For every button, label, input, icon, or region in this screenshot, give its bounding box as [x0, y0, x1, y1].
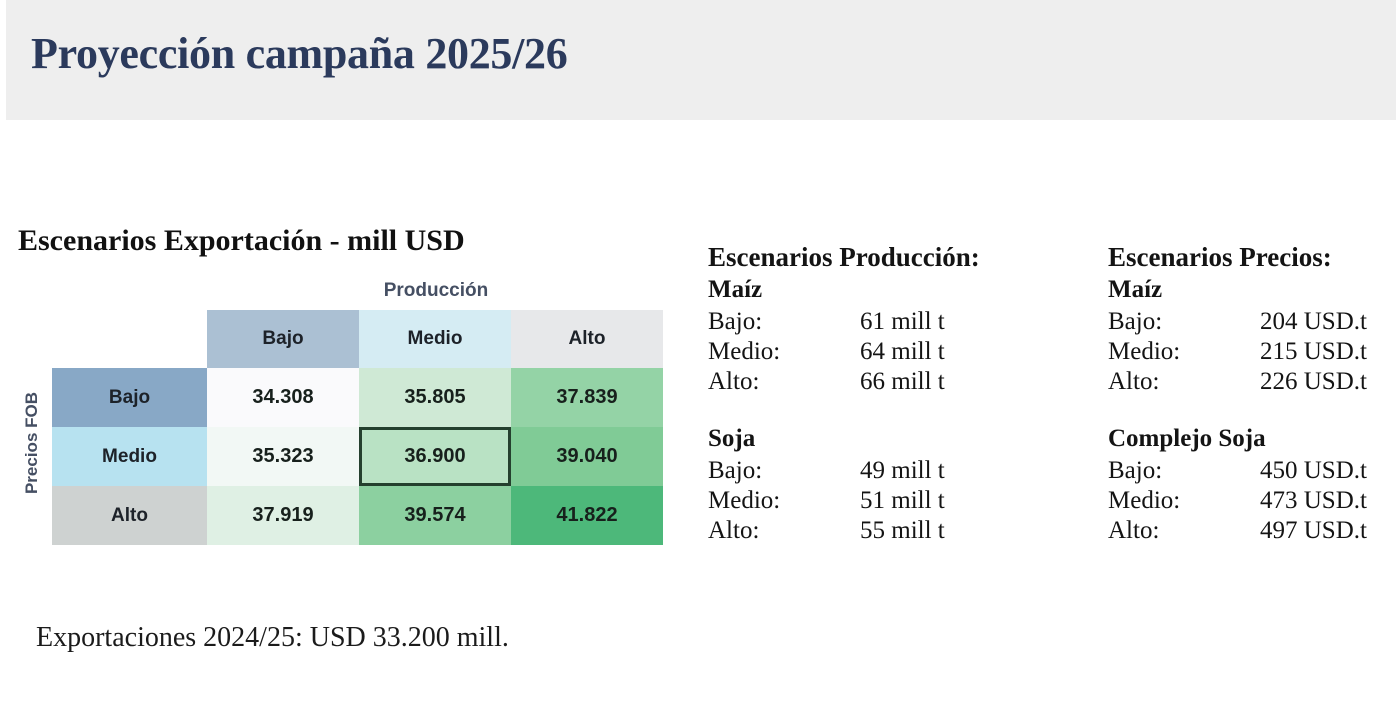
precios-complejo-soja-rows: Bajo: 450 USD.t Medio: 473 USD.t Alto: 4… — [1108, 456, 1396, 546]
row-value: 204 USD.t — [1260, 307, 1396, 337]
precios-group-maiz-name: Maíz — [1108, 274, 1396, 306]
row-label: Medio: — [708, 486, 860, 516]
row-value: 61 mill t — [860, 307, 1098, 337]
row-value: 64 mill t — [860, 337, 1098, 367]
row-label: Alto: — [1108, 516, 1260, 546]
row-label: Bajo: — [1108, 307, 1260, 337]
row-value: 497 USD.t — [1260, 516, 1396, 546]
precios-maiz-rows: Bajo: 204 USD.t Medio: 215 USD.t Alto: 2… — [1108, 307, 1396, 397]
row-value: 55 mill t — [860, 516, 1098, 546]
matrix-table: Bajo Medio Alto Bajo 34.308 35.805 37.83… — [52, 310, 663, 545]
row-label: Bajo: — [708, 307, 860, 337]
matrix-cell-alto-medio: 39.574 — [359, 486, 511, 545]
list-item: Alto: 55 mill t — [708, 516, 1098, 546]
escenarios-precios-title: Escenarios Precios: — [1108, 240, 1396, 274]
row-label: Alto: — [1108, 367, 1260, 397]
matrix-corner-cell — [52, 310, 207, 368]
column-header-alto: Alto — [511, 310, 663, 368]
row-label: Medio: — [1108, 486, 1260, 516]
column-header-medio: Medio — [359, 310, 511, 368]
precios-fob-axis-label: Precios FOB — [22, 383, 42, 503]
produccion-axis-label: Producción — [207, 280, 665, 302]
row-value: 66 mill t — [860, 367, 1098, 397]
row-label: Alto: — [708, 516, 860, 546]
precios-group-complejo-soja-name: Complejo Soja — [1108, 423, 1396, 455]
list-item: Medio: 473 USD.t — [1108, 486, 1396, 516]
matrix-cell-medio-medio-highlighted: 36.900 — [359, 427, 511, 486]
list-item: Medio: 215 USD.t — [1108, 337, 1396, 367]
table-row: Medio 35.323 36.900 39.040 — [52, 427, 663, 486]
list-item: Alto: 66 mill t — [708, 367, 1098, 397]
slide-root: Proyección campaña 2025/26 Escenarios Ex… — [0, 0, 1396, 716]
row-label: Bajo: — [1108, 456, 1260, 486]
column-header-bajo: Bajo — [207, 310, 359, 368]
escenarios-precios-block: Escenarios Precios: Maíz Bajo: 204 USD.t… — [1108, 240, 1396, 546]
exportaciones-footer-note: Exportaciones 2024/25: USD 33.200 mill. — [36, 622, 509, 654]
title-band-left-trim — [0, 0, 6, 120]
list-item: Bajo: 450 USD.t — [1108, 456, 1396, 486]
row-value: 473 USD.t — [1260, 486, 1396, 516]
produccion-soja-rows: Bajo: 49 mill t Medio: 51 mill t Alto: 5… — [708, 456, 1098, 546]
list-item: Alto: 497 USD.t — [1108, 516, 1396, 546]
row-value: 226 USD.t — [1260, 367, 1396, 397]
group-spacer — [1108, 397, 1396, 423]
produccion-group-maiz-name: Maíz — [708, 274, 1098, 306]
list-item: Bajo: 49 mill t — [708, 456, 1098, 486]
produccion-group-soja-name: Soja — [708, 423, 1098, 455]
produccion-maiz-rows: Bajo: 61 mill t Medio: 64 mill t Alto: 6… — [708, 307, 1098, 397]
row-label: Medio: — [708, 337, 860, 367]
row-header-medio: Medio — [52, 427, 207, 486]
list-item: Medio: 51 mill t — [708, 486, 1098, 516]
matrix-heading: Escenarios Exportación - mill USD — [18, 224, 465, 258]
matrix-cell-alto-alto: 41.822 — [511, 486, 663, 545]
list-item: Medio: 64 mill t — [708, 337, 1098, 367]
export-scenario-matrix: Producción Precios FOB Bajo Medio Alto B… — [0, 276, 680, 556]
row-label: Bajo: — [708, 456, 860, 486]
matrix-cell-medio-bajo: 35.323 — [207, 427, 359, 486]
row-value: 51 mill t — [860, 486, 1098, 516]
escenarios-produccion-title: Escenarios Producción: — [708, 240, 1098, 274]
page-title: Proyección campaña 2025/26 — [31, 28, 567, 79]
row-header-alto: Alto — [52, 486, 207, 545]
matrix-header-row: Bajo Medio Alto — [52, 310, 663, 368]
row-label: Medio: — [1108, 337, 1260, 367]
group-spacer — [708, 397, 1098, 423]
matrix-cell-medio-alto: 39.040 — [511, 427, 663, 486]
matrix-cell-bajo-alto: 37.839 — [511, 368, 663, 427]
escenarios-produccion-block: Escenarios Producción: Maíz Bajo: 61 mil… — [708, 240, 1098, 546]
table-row: Alto 37.919 39.574 41.822 — [52, 486, 663, 545]
row-value: 215 USD.t — [1260, 337, 1396, 367]
matrix-cell-alto-bajo: 37.919 — [207, 486, 359, 545]
list-item: Bajo: 61 mill t — [708, 307, 1098, 337]
matrix-cell-bajo-bajo: 34.308 — [207, 368, 359, 427]
row-label: Alto: — [708, 367, 860, 397]
list-item: Alto: 226 USD.t — [1108, 367, 1396, 397]
matrix-cell-bajo-medio: 35.805 — [359, 368, 511, 427]
row-header-bajo: Bajo — [52, 368, 207, 427]
row-value: 450 USD.t — [1260, 456, 1396, 486]
row-value: 49 mill t — [860, 456, 1098, 486]
table-row: Bajo 34.308 35.805 37.839 — [52, 368, 663, 427]
list-item: Bajo: 204 USD.t — [1108, 307, 1396, 337]
